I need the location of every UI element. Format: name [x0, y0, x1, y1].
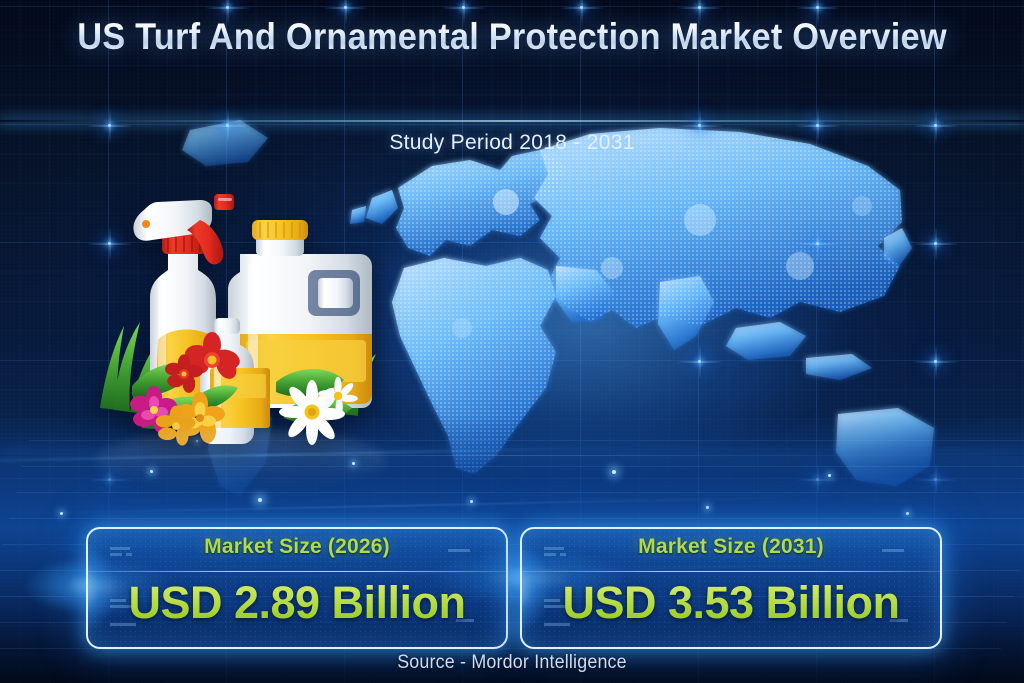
source-attribution: Source - Mordor Intelligence: [31, 652, 994, 674]
header-light-beam: [0, 120, 1024, 122]
stat-label-2026: Market Size (2026): [88, 535, 506, 559]
study-period-label: Study Period 2018 - 2031: [0, 131, 1024, 155]
stat-label-2031: Market Size (2031): [522, 535, 940, 559]
stat-card-2031: Market Size (2031) USD 3.53 Billion: [520, 527, 942, 649]
product-illustration: [88, 158, 388, 458]
page-title: US Turf And Ornamental Protection Market…: [36, 14, 988, 60]
stat-value-2026: USD 2.89 Billion: [88, 577, 506, 629]
stat-value-2031: USD 3.53 Billion: [522, 577, 940, 629]
stat-card-divider: [522, 571, 940, 572]
stat-card-divider: [88, 571, 506, 572]
product-reflection: [96, 430, 386, 490]
stat-card-2026: Market Size (2026) USD 2.89 Billion: [86, 527, 508, 649]
infographic-canvas: US Turf And Ornamental Protection Market…: [0, 0, 1024, 683]
